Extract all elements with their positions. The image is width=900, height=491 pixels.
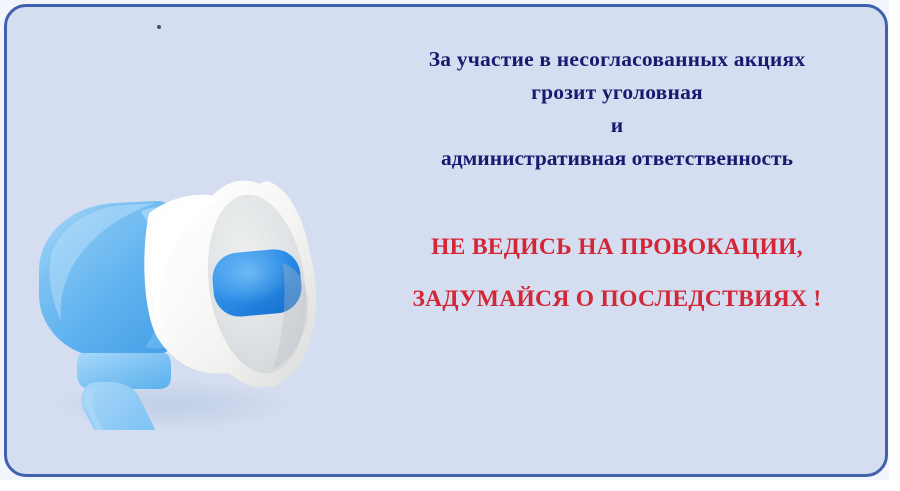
poster-frame: За участие в несогласованных акциях гроз…	[4, 4, 888, 477]
callout-line-1: НЕ ВЕДИСЬ НА ПРОВОКАЦИИ,	[377, 221, 857, 273]
headline-line-4: административная ответственность	[377, 142, 857, 175]
bottom-margin	[0, 480, 900, 491]
headline-line-3: и	[377, 109, 857, 142]
headline-line-1: За участие в несогласованных акциях	[377, 43, 857, 76]
poster-text-block: За участие в несогласованных акциях гроз…	[377, 43, 857, 325]
callout-line-2: ЗАДУМАЙСЯ О ПОСЛЕДСТВИЯХ !	[377, 273, 857, 325]
right-margin	[889, 0, 900, 491]
text-spacer	[377, 175, 857, 221]
headline-line-2: грозит уголовная	[377, 76, 857, 109]
megaphone-icon	[21, 85, 331, 430]
image-speck-artifact	[157, 25, 161, 29]
